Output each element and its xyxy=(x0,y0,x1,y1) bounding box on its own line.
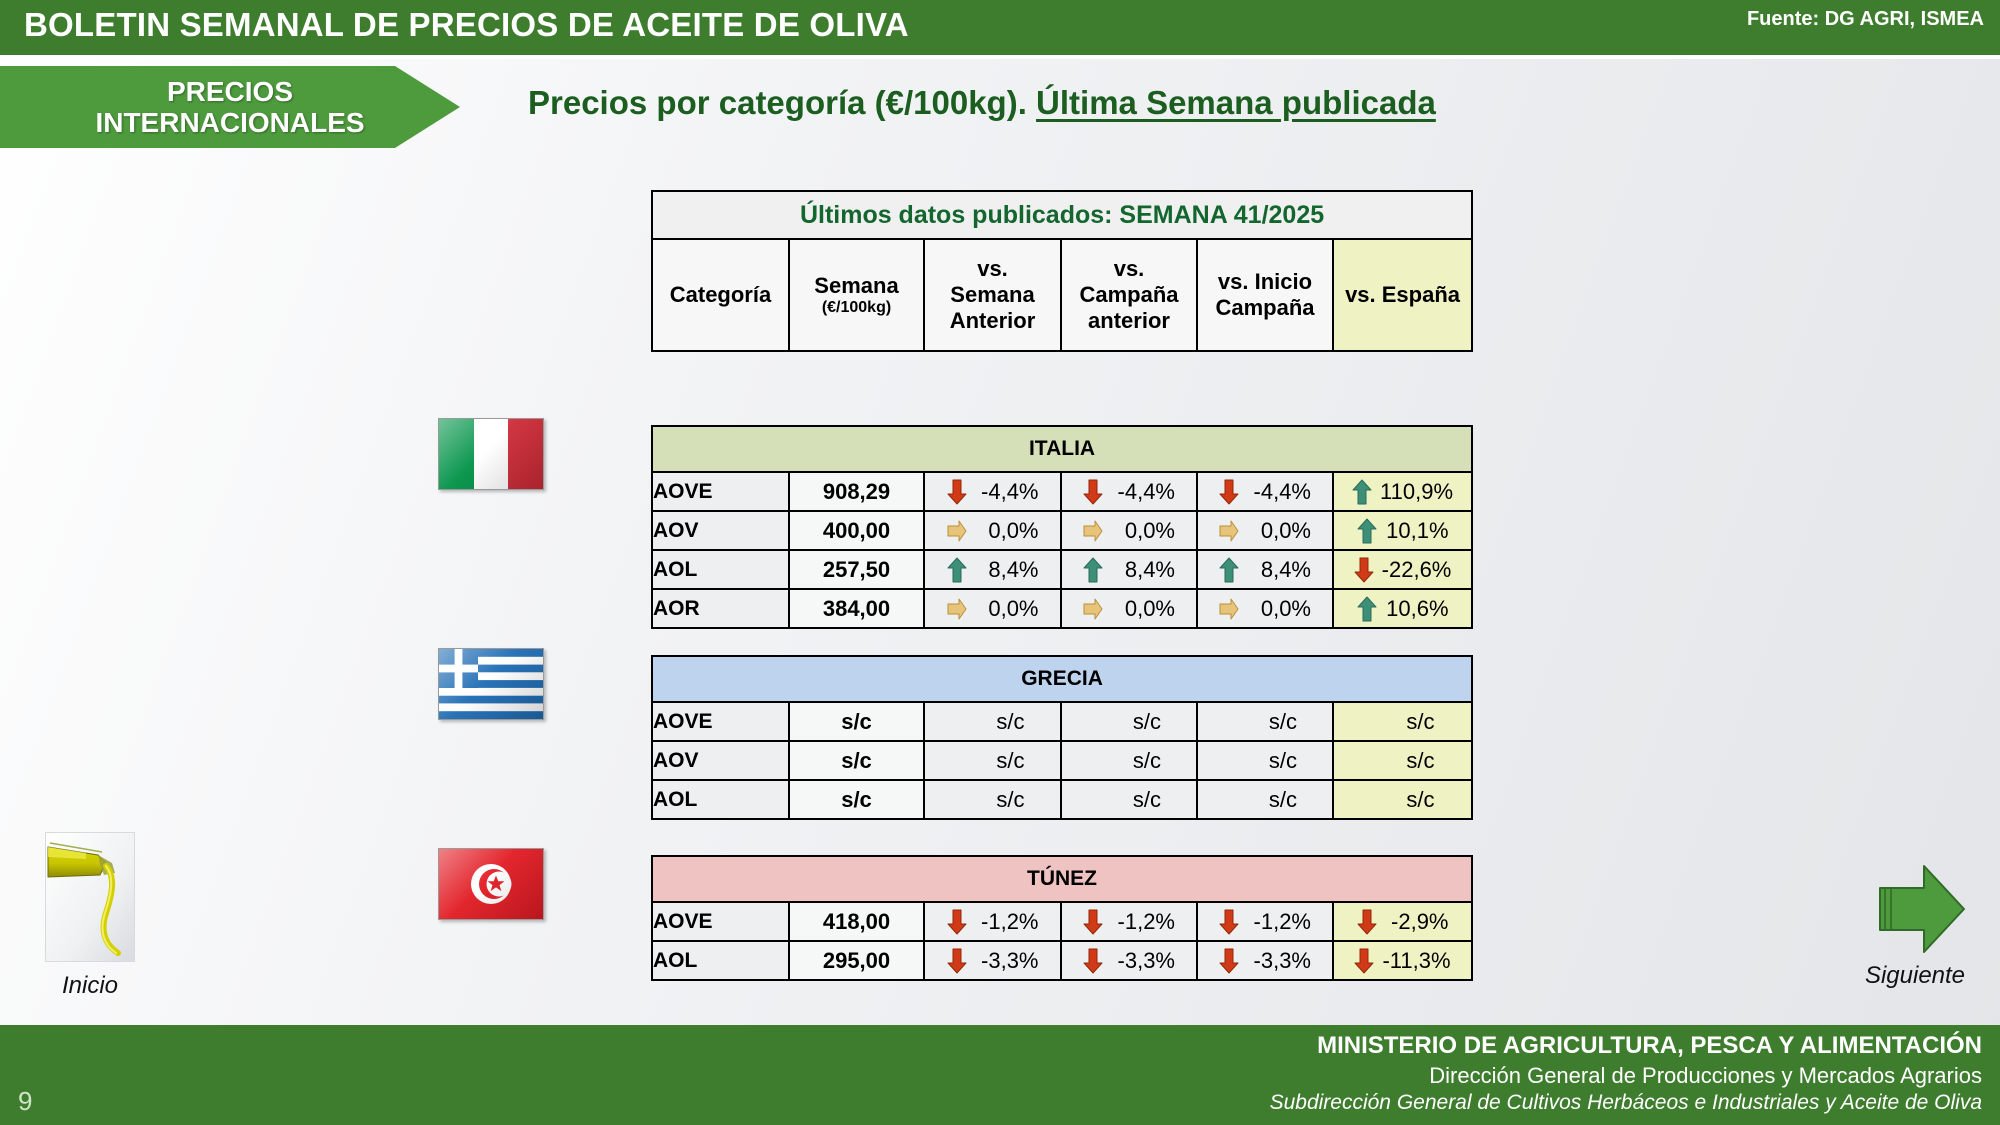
cell-price: 418,00 xyxy=(789,902,924,941)
greece-flag-svg xyxy=(439,649,543,719)
cell-pct: s/c xyxy=(1061,741,1197,780)
table-row: AOVE418,00-1,2%-1,2%-1,2%-2,9% xyxy=(652,902,1472,941)
arrow-up-icon xyxy=(1219,557,1239,583)
table-italia: ITALIAAOVE908,29-4,4%-4,4%-4,4%110,9%AOV… xyxy=(651,425,1473,629)
arrow-down-icon xyxy=(1219,948,1239,974)
cell-pct: -2,9% xyxy=(1333,902,1472,941)
arrow-down-icon xyxy=(947,479,967,505)
cell-price: 908,29 xyxy=(789,472,924,511)
cell-pct: 0,0% xyxy=(924,511,1061,550)
arrow-right-icon xyxy=(947,518,967,544)
section-tab-line2: INTERNACIONALES xyxy=(95,107,364,138)
section-heading: Precios por categoría (€/100kg). Última … xyxy=(528,84,1436,122)
country-band-row: TÚNEZ xyxy=(652,856,1472,902)
arrow-right-icon xyxy=(947,596,967,622)
col-header-semana-unit: (€/100kg) xyxy=(790,299,923,318)
arrow-down-icon xyxy=(1083,479,1103,505)
country-name-grecia: GRECIA xyxy=(652,656,1472,702)
next-arrow-svg xyxy=(1862,862,1968,956)
country-name-túnez: TÚNEZ xyxy=(652,856,1472,902)
cell-pct: -3,3% xyxy=(924,941,1061,980)
cell-category: AOVE xyxy=(652,902,789,941)
cell-pct: -22,6% xyxy=(1333,550,1472,589)
cell-price: 384,00 xyxy=(789,589,924,628)
cell-category: AOL xyxy=(652,780,789,819)
cell-pct: -11,3% xyxy=(1333,941,1472,980)
cell-price: 257,50 xyxy=(789,550,924,589)
cell-pct: -1,2% xyxy=(1197,902,1333,941)
arrow-down-icon xyxy=(1354,948,1374,974)
cell-pct: 8,4% xyxy=(1061,550,1197,589)
cell-category: AOL xyxy=(652,550,789,589)
cell-pct: 0,0% xyxy=(1197,589,1333,628)
page-footer: MINISTERIO DE AGRICULTURA, PESCA Y ALIME… xyxy=(0,1025,2000,1125)
col-header-categoria: Categoría xyxy=(652,239,789,351)
table-túnez: TÚNEZAOVE418,00-1,2%-1,2%-1,2%-2,9%AOL29… xyxy=(651,855,1473,981)
cell-pct: -4,4% xyxy=(1061,472,1197,511)
cell-category: AOV xyxy=(652,511,789,550)
source-label: Fuente: DG AGRI, ISMEA xyxy=(1747,8,1984,31)
table-row: AOVs/cs/cs/cs/cs/c xyxy=(652,741,1472,780)
arrow-up-icon xyxy=(947,557,967,583)
green-right-arrow-icon[interactable] xyxy=(1862,862,1968,956)
tunisia-flag-svg xyxy=(439,849,543,919)
arrow-down-icon xyxy=(947,909,967,935)
col-header-categoria-text: Categoría xyxy=(670,282,771,307)
section-heading-underlined: Última Semana publicada xyxy=(1036,84,1436,121)
arrow-down-icon xyxy=(1357,909,1377,935)
arrow-right-icon xyxy=(1083,596,1103,622)
cell-price: s/c xyxy=(789,741,924,780)
cell-pct: 8,4% xyxy=(1197,550,1333,589)
cell-pct: s/c xyxy=(1197,741,1333,780)
italy-flag xyxy=(438,418,544,490)
section-tab-line1: PRECIOS xyxy=(167,76,293,107)
arrow-down-icon xyxy=(1083,909,1103,935)
olive-oil-bottle-image[interactable] xyxy=(45,832,135,962)
arrow-right-icon xyxy=(1083,518,1103,544)
cell-pct: 0,0% xyxy=(1061,589,1197,628)
table-row: AOVE908,29-4,4%-4,4%-4,4%110,9% xyxy=(652,472,1472,511)
table-row: AOL257,508,4%8,4%8,4%-22,6% xyxy=(652,550,1472,589)
cell-pct: s/c xyxy=(1333,741,1472,780)
table-row: AOLs/cs/cs/cs/cs/c xyxy=(652,780,1472,819)
tunisia-flag xyxy=(438,848,544,920)
table-header-block: Últimos datos publicados: SEMANA 41/2025… xyxy=(651,190,1473,352)
footer-ministry: MINISTERIO DE AGRICULTURA, PESCA Y ALIME… xyxy=(1317,1032,1982,1060)
col-header-vs-espana: vs. España xyxy=(1333,239,1472,351)
cell-category: AOR xyxy=(652,589,789,628)
cell-price: 400,00 xyxy=(789,511,924,550)
header-divider xyxy=(0,55,2000,59)
cell-pct: 0,0% xyxy=(924,589,1061,628)
cell-pct: -1,2% xyxy=(1061,902,1197,941)
col-header-vs-inicio-campana: vs. Inicio Campaña xyxy=(1197,239,1333,351)
last-published-banner: Últimos datos publicados: SEMANA 41/2025 xyxy=(652,191,1472,239)
cell-pct: s/c xyxy=(1197,702,1333,741)
arrow-down-icon xyxy=(947,948,967,974)
arrow-right-icon xyxy=(1219,596,1239,622)
cell-pct: s/c xyxy=(1333,780,1472,819)
cell-category: AOV xyxy=(652,741,789,780)
arrow-up-icon xyxy=(1352,479,1372,505)
footer-direccion: Dirección General de Producciones y Merc… xyxy=(1429,1063,1982,1089)
olive-oil-illustration xyxy=(46,833,134,961)
cell-pct: s/c xyxy=(1061,702,1197,741)
table-row: AOVEs/cs/cs/cs/cs/c xyxy=(652,702,1472,741)
arrow-down-icon xyxy=(1354,557,1374,583)
inicio-label[interactable]: Inicio xyxy=(0,972,180,1000)
country-name-italia: ITALIA xyxy=(652,426,1472,472)
cell-pct: 10,6% xyxy=(1333,589,1472,628)
arrow-down-icon xyxy=(1219,479,1239,505)
page-title: BOLETIN SEMANAL DE PRECIOS DE ACEITE DE … xyxy=(24,6,909,44)
cell-pct: 0,0% xyxy=(1197,511,1333,550)
cell-pct: 110,9% xyxy=(1333,472,1472,511)
cell-pct: -4,4% xyxy=(1197,472,1333,511)
greece-flag xyxy=(438,648,544,720)
col-header-vs-campana-anterior: vs. Campaña anterior xyxy=(1061,239,1197,351)
table-row: AOL295,00-3,3%-3,3%-3,3%-11,3% xyxy=(652,941,1472,980)
table-grecia: GRECIAAOVEs/cs/cs/cs/cs/cAOVs/cs/cs/cs/c… xyxy=(651,655,1473,820)
cell-price: s/c xyxy=(789,702,924,741)
cell-pct: -3,3% xyxy=(1061,941,1197,980)
cell-price: 295,00 xyxy=(789,941,924,980)
cell-pct: s/c xyxy=(1197,780,1333,819)
table-row: AOR384,000,0%0,0%0,0%10,6% xyxy=(652,589,1472,628)
country-band-row: ITALIA xyxy=(652,426,1472,472)
section-tab-precios-internacionales[interactable]: PRECIOS INTERNACIONALES xyxy=(0,66,460,148)
country-band-row: GRECIA xyxy=(652,656,1472,702)
section-heading-plain: Precios por categoría (€/100kg). xyxy=(528,84,1036,121)
col-header-semana: Semana (€/100kg) xyxy=(789,239,924,351)
page-number: 9 xyxy=(18,1086,32,1117)
arrow-up-icon xyxy=(1357,596,1377,622)
app-header: BOLETIN SEMANAL DE PRECIOS DE ACEITE DE … xyxy=(0,0,2000,55)
arrow-down-icon xyxy=(1219,909,1239,935)
siguiente-label[interactable]: Siguiente xyxy=(1830,962,2000,990)
col-header-vs-semana-anterior: vs. Semana Anterior xyxy=(924,239,1061,351)
cell-pct: 10,1% xyxy=(1333,511,1472,550)
cell-pct: s/c xyxy=(924,780,1061,819)
cell-category: AOVE xyxy=(652,702,789,741)
cell-pct: -3,3% xyxy=(1197,941,1333,980)
cell-pct: 8,4% xyxy=(924,550,1061,589)
table-banner-row: Últimos datos publicados: SEMANA 41/2025 xyxy=(652,191,1472,239)
cell-category: AOVE xyxy=(652,472,789,511)
arrow-down-icon xyxy=(1083,948,1103,974)
col-header-semana-text: Semana xyxy=(790,273,923,299)
cell-pct: s/c xyxy=(1333,702,1472,741)
cell-pct: s/c xyxy=(924,741,1061,780)
cell-category: AOL xyxy=(652,941,789,980)
cell-pct: s/c xyxy=(924,702,1061,741)
arrow-up-icon xyxy=(1083,557,1103,583)
table-column-header-row: Categoría Semana (€/100kg) vs. Semana An… xyxy=(652,239,1472,351)
arrow-up-icon xyxy=(1357,518,1377,544)
arrow-right-icon xyxy=(1219,518,1239,544)
cell-price: s/c xyxy=(789,780,924,819)
table-row: AOV400,000,0%0,0%0,0%10,1% xyxy=(652,511,1472,550)
cell-pct: 0,0% xyxy=(1061,511,1197,550)
cell-pct: -1,2% xyxy=(924,902,1061,941)
cell-pct: s/c xyxy=(1061,780,1197,819)
cell-pct: -4,4% xyxy=(924,472,1061,511)
footer-subdireccion: Subdirección General de Cultivos Herbáce… xyxy=(1270,1091,1982,1115)
